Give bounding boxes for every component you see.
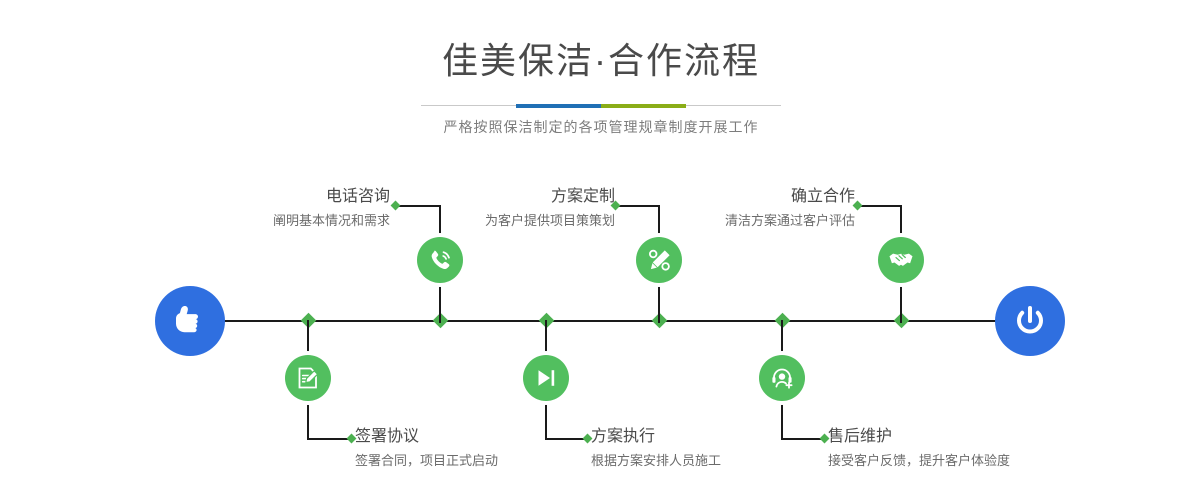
play-execute-icon — [533, 365, 559, 391]
step-title-6: 售后维护 — [828, 428, 1108, 446]
step-label-3: 方案定制 为客户提供项目策策划 — [375, 188, 615, 229]
step-icon-3 — [636, 237, 682, 283]
step-label-1: 电话咨询 阐明基本情况和需求 — [150, 188, 390, 229]
step-title-2: 签署协议 — [355, 428, 615, 446]
step-icon-5 — [878, 237, 924, 283]
pointing-hand-icon — [170, 301, 210, 341]
step-title-3: 方案定制 — [375, 188, 615, 206]
title-divider — [421, 101, 781, 111]
step-icon-1 — [417, 237, 463, 283]
step-title-1: 电话咨询 — [150, 188, 390, 206]
step-icon-6 — [759, 355, 805, 401]
phone-call-icon — [426, 246, 454, 274]
step-title-4: 方案执行 — [591, 428, 851, 446]
step-label-5: 确立合作 清洁方案通过客户评估 — [615, 188, 855, 229]
page-title: 佳美保洁·合作流程 — [0, 43, 1202, 79]
page-subtitle: 严格按照保洁制定的各项管理规章制度开展工作 — [0, 120, 1202, 134]
divider-green-segment — [601, 104, 686, 108]
step-desc-4: 根据方案安排人员施工 — [591, 453, 851, 469]
flow-chart-page: 佳美保洁·合作流程 严格按照保洁制定的各项管理规章制度开展工作 — [0, 0, 1202, 502]
pencil-ruler-icon — [646, 247, 673, 274]
step-desc-6: 接受客户反馈，提升客户体验度 — [828, 453, 1108, 469]
step-desc-3: 为客户提供项目策策划 — [375, 213, 615, 229]
step-title-5: 确立合作 — [615, 188, 855, 206]
step-desc-5: 清洁方案通过客户评估 — [615, 213, 855, 229]
step-desc-2: 签署合同，项目正式启动 — [355, 453, 615, 469]
power-button-icon — [1010, 301, 1050, 341]
branch-line-2-horizontal — [307, 438, 352, 440]
divider-blue-segment — [516, 104, 601, 108]
step-label-4: 方案执行 根据方案安排人员施工 — [591, 428, 851, 469]
step-label-2: 签署协议 签署合同，项目正式启动 — [355, 428, 615, 469]
branch-line-4-horizontal — [545, 438, 587, 440]
end-node — [995, 286, 1065, 356]
step-icon-4 — [523, 355, 569, 401]
customer-support-add-icon — [769, 365, 796, 392]
branch-line-5-horizontal — [858, 205, 902, 207]
start-node — [155, 286, 225, 356]
document-edit-icon — [295, 365, 321, 391]
step-label-6: 售后维护 接受客户反馈，提升客户体验度 — [828, 428, 1108, 469]
handshake-icon — [887, 246, 915, 274]
step-desc-1: 阐明基本情况和需求 — [150, 213, 390, 229]
header: 佳美保洁·合作流程 严格按照保洁制定的各项管理规章制度开展工作 — [0, 0, 1202, 134]
step-icon-2 — [285, 355, 331, 401]
